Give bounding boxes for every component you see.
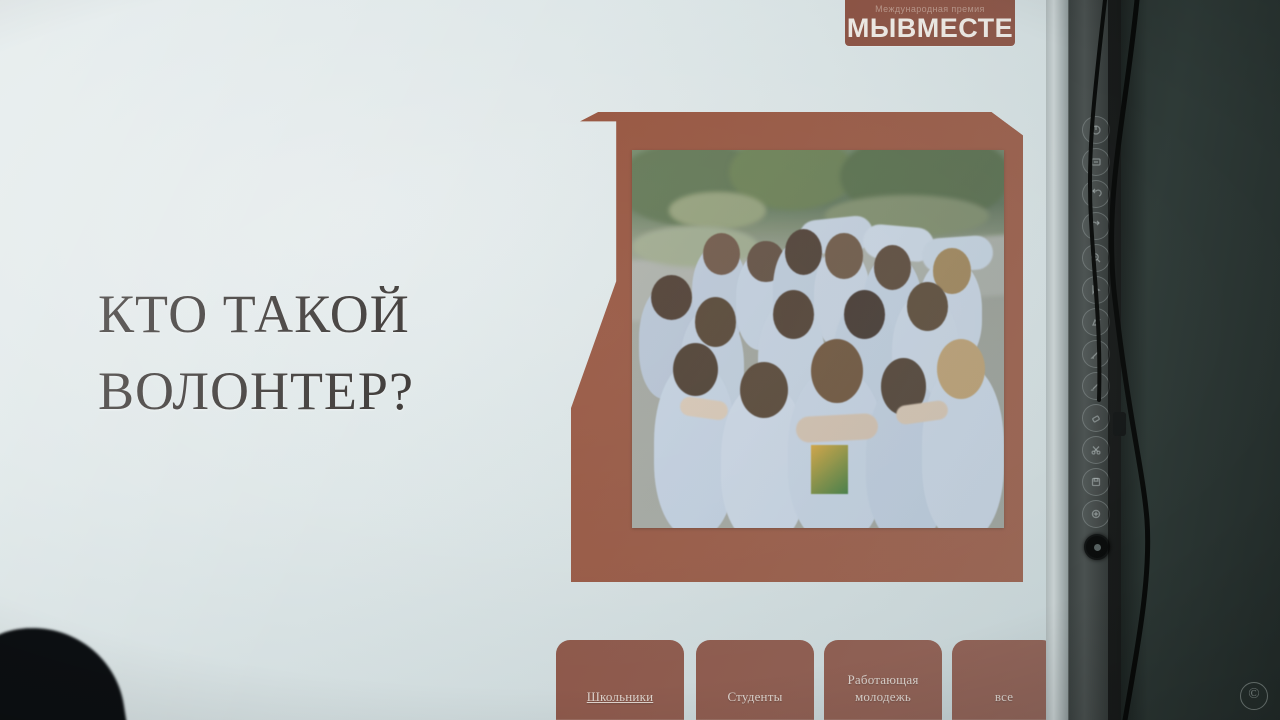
board-right-edge (1046, 0, 1068, 720)
category-tab-label: Студенты (721, 688, 788, 720)
category-tab-label: Школьники (581, 688, 660, 720)
award-badge-word: МЫВМЕСТЕ (847, 15, 1013, 42)
volunteers-photo (632, 150, 1004, 528)
category-tab-everyone[interactable]: все (952, 640, 1056, 720)
page-title-line-2: ВОЛОНТЕР? (98, 353, 518, 430)
category-tab-students[interactable]: Студенты (696, 640, 814, 720)
category-tabs: Школьники Студенты Работающая молодежь в… (556, 640, 1036, 720)
page-title: КТО ТАКОЙ ВОЛОНТЕР? (98, 276, 518, 429)
category-tab-schoolchildren[interactable]: Школьники (556, 640, 684, 720)
screenshot-root: Международная премия МЫВМЕСТЕ (0, 0, 1280, 720)
cable-connector (1113, 412, 1126, 436)
copyright-watermark: © (1240, 682, 1268, 710)
page-title-line-1: КТО ТАКОЙ (98, 276, 518, 353)
award-badge-kicker: Международная премия (875, 4, 985, 14)
photo-grain-overlay (632, 150, 1004, 528)
award-badge: Международная премия МЫВМЕСТЕ (845, 0, 1015, 46)
category-tab-working-youth[interactable]: Работающая молодежь (824, 640, 942, 720)
category-tab-label: Работающая молодежь (824, 671, 942, 720)
category-tab-label: все (989, 688, 1019, 720)
hanging-cables (1085, 0, 1280, 720)
